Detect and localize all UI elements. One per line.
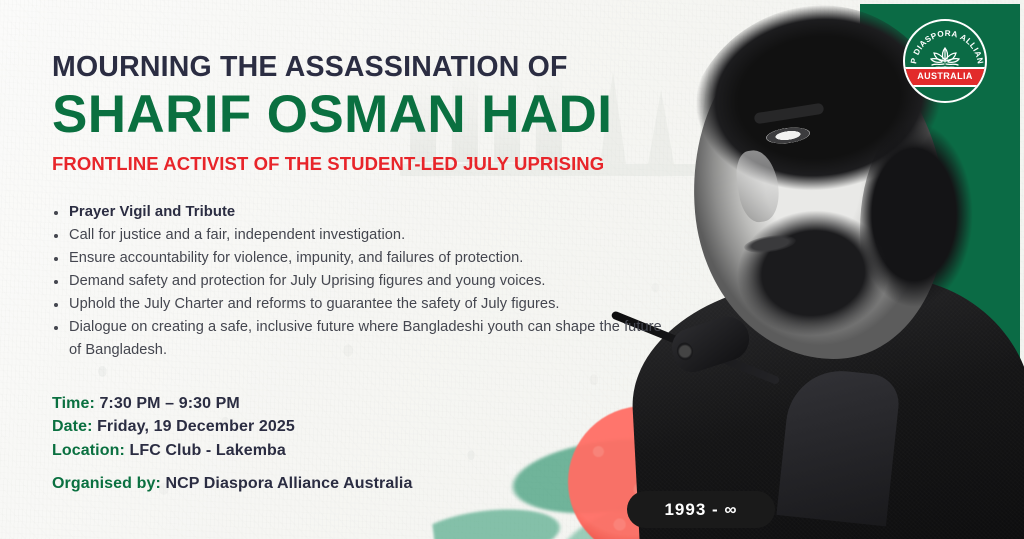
event-poster: NCP DIASPORA ALLIANCE (0, 0, 1024, 539)
list-item: Uphold the July Charter and reforms to g… (52, 293, 672, 316)
logo-country-band: AUSTRALIA (905, 67, 985, 88)
detail-organiser-label: Organised by: (52, 475, 161, 492)
poster-headline: SHARIF OSMAN HADI (52, 88, 672, 142)
detail-time-label: Time: (52, 395, 95, 412)
detail-time-value: 7:30 PM – 9:30 PM (99, 395, 239, 412)
year-badge: 1993 - ∞ (627, 491, 775, 528)
logo-disc: NCP DIASPORA ALLIANCE (903, 19, 987, 103)
list-item: Prayer Vigil and Tribute (52, 201, 672, 224)
detail-location-label: Location: (52, 442, 125, 459)
poster-content: MOURNING THE ASSASSINATION OF SHARIF OSM… (52, 52, 672, 493)
detail-location-value: LFC Club - Lakemba (129, 442, 285, 459)
list-item: Ensure accountability for violence, impu… (52, 247, 672, 270)
detail-date: Date: Friday, 19 December 2025 (52, 415, 672, 438)
organisation-logo: NCP DIASPORA ALLIANCE (897, 19, 993, 103)
list-item: Call for justice and a fair, independent… (52, 224, 672, 247)
event-details: Time: 7:30 PM – 9:30 PM Date: Friday, 19… (52, 392, 672, 493)
detail-date-label: Date: (52, 418, 93, 435)
detail-organiser: Organised by: NCP Diaspora Alliance Aust… (52, 475, 672, 493)
detail-organiser-value: NCP Diaspora Alliance Australia (165, 475, 412, 492)
agenda-list: Prayer Vigil and Tribute Call for justic… (52, 201, 672, 363)
list-item: Dialogue on creating a safe, inclusive f… (52, 316, 672, 362)
detail-time: Time: 7:30 PM – 9:30 PM (52, 392, 672, 415)
detail-date-value: Friday, 19 December 2025 (97, 418, 295, 435)
poster-subline: FRONTLINE ACTIVIST OF THE STUDENT-LED JU… (52, 154, 672, 174)
poster-kicker: MOURNING THE ASSASSINATION OF (52, 52, 672, 82)
logo-country-label: AUSTRALIA (917, 72, 973, 81)
year-badge-label: 1993 - ∞ (664, 500, 737, 520)
detail-location: Location: LFC Club - Lakemba (52, 439, 672, 462)
list-item: Demand safety and protection for July Up… (52, 270, 672, 293)
